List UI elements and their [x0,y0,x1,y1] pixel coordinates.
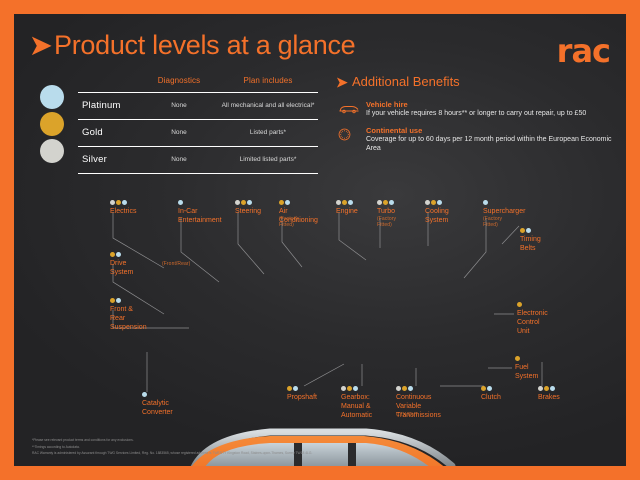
plan-table: Diagnostics Plan includes Platinum None … [38,76,318,174]
platinum-swatch [40,85,64,109]
label-text: Gearbox: Manual & Automatic [341,394,372,420]
tier-dots [287,386,299,392]
tier-dots [110,200,128,206]
label-text: Cooling System [425,208,449,226]
header: ➤ Product levels at a glance rac [14,14,626,66]
page-title: Product levels at a glance [54,30,355,61]
label-text: Front & Rear Suspension [110,306,147,332]
label-subtext: (Front/Rear) [162,261,190,267]
label-subtext: (Factory Fitted) [279,216,298,229]
tier-dots [515,356,521,362]
column-header-plan-includes: Plan includes [218,76,318,85]
label-subtext: CTX/CVT [396,412,418,418]
gold-swatch [40,112,64,136]
tier-dots [425,200,443,206]
label-text: Electrics [110,208,136,217]
label-text: In-Car Entertainment [178,208,222,226]
cell-diagnostics: None [148,129,210,136]
label-text: Steering [235,208,261,217]
tier-dots [520,228,532,234]
column-header-diagnostics: Diagnostics [148,76,210,85]
cell-diagnostics: None [148,156,210,163]
label-text: Timing Belts [520,236,541,254]
tier-dots [483,200,489,206]
label-subtext: (Factory Fitted) [483,216,502,229]
tier-dots [517,302,523,308]
label-text: Engine [336,208,358,217]
benefit-body: If your vehicle requires 8 hours** or lo… [366,109,614,118]
cell-diagnostics: None [148,102,210,109]
tier-dots [142,392,148,398]
benefit-body: Coverage for up to 60 days per 12 month … [366,135,614,154]
leader-lines [14,182,626,432]
tier-dots [110,252,122,258]
level-name: Silver [82,154,107,165]
car-icon [338,102,360,114]
table-row: Gold None Listed parts* [78,119,318,146]
tier-dots [279,200,291,206]
footer-disclaimer: *Please see relevant product terms and c… [32,437,592,456]
label-text: Electronic Control Unit [517,310,548,336]
table-header-row: Diagnostics Plan includes [38,76,318,92]
europe-stars-icon [338,128,360,140]
rac-logo: rac [557,32,610,70]
chevron-right-icon: ➤ [336,74,348,91]
tier-dots [481,386,493,392]
table-row: Silver None Limited listed parts* [78,146,318,174]
poster-canvas: ➤ Product levels at a glance rac Diagnos… [14,14,626,466]
tier-dots [178,200,184,206]
label-text: Catalytic Converter [142,400,173,418]
label-text: Propshaft [287,394,317,403]
label-subtext: (Factory Fitted) [377,216,396,229]
benefit-heading: Continental use [366,126,422,135]
tier-dots [396,386,414,392]
benefits-title: Additional Benefits [352,74,460,89]
cell-plan-includes: All mechanical and all electrical* [218,102,318,109]
label-text: Fuel System [515,364,538,382]
silver-swatch [40,139,64,163]
label-text: Brakes [538,394,560,403]
level-name: Platinum [82,100,121,111]
footer-line-3: RAC Warranty is administered by Assurant… [32,450,592,456]
vehicle-component-diagram: Electrics In-Car Entertainment Steering … [14,182,626,432]
benefit-heading: Vehicle hire [366,100,408,109]
tier-dots [110,298,122,304]
tier-dots [377,200,395,206]
label-text: Drive System [110,260,133,278]
cell-plan-includes: Limited listed parts* [218,156,318,163]
table-row: Platinum None All mechanical and all ele… [78,92,318,119]
label-text: Clutch [481,394,501,403]
level-name: Gold [82,127,103,138]
tier-dots [235,200,253,206]
cell-plan-includes: Listed parts* [218,129,318,136]
tier-dots [341,386,359,392]
chevron-right-icon: ➤ [30,32,52,58]
tier-dots [538,386,556,392]
tier-dots [336,200,354,206]
